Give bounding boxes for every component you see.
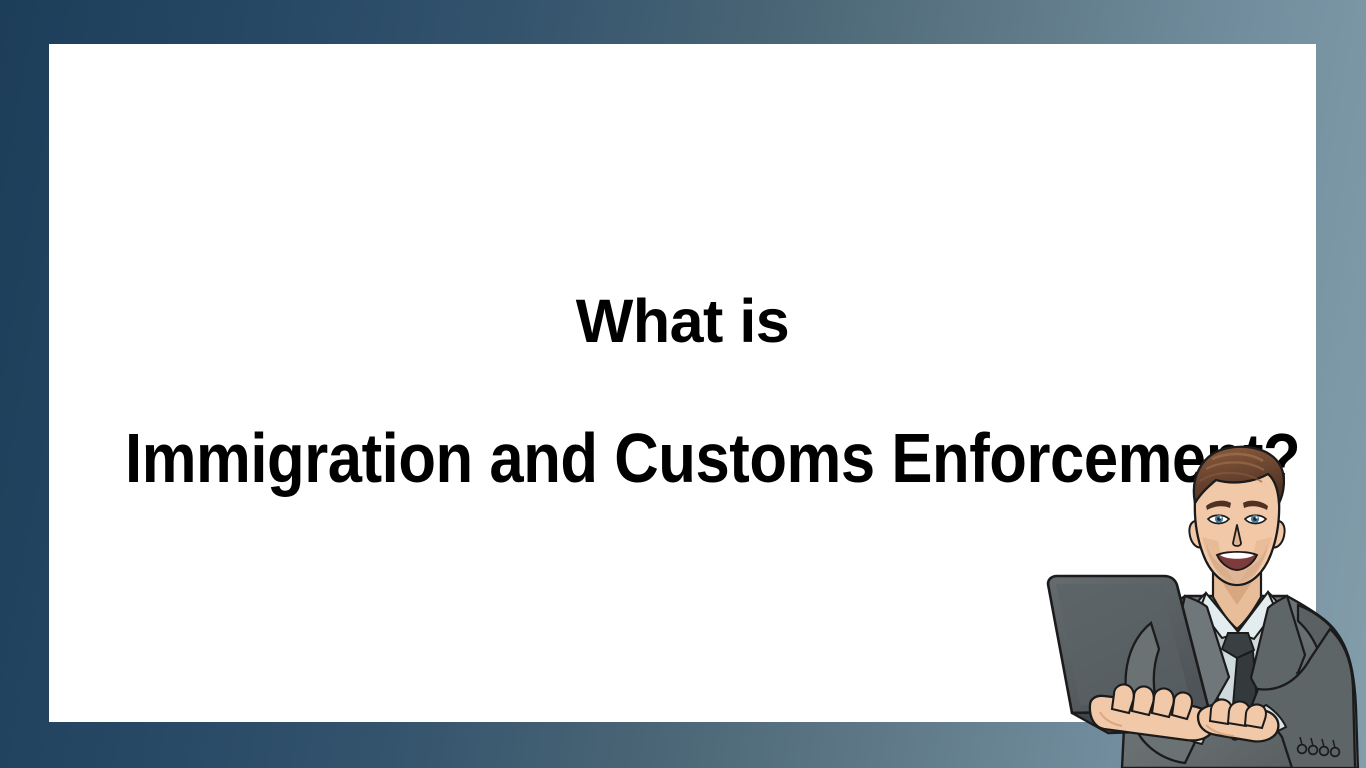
title-block: What is Immigration and Customs Enforcem… — [49, 44, 1316, 722]
slide: What is Immigration and Customs Enforcem… — [0, 0, 1366, 768]
title-line-1: What is — [49, 291, 1316, 352]
slide-content-card: What is Immigration and Customs Enforcem… — [49, 44, 1316, 722]
title-line-2: Immigration and Customs Enforcement? — [125, 423, 1240, 493]
